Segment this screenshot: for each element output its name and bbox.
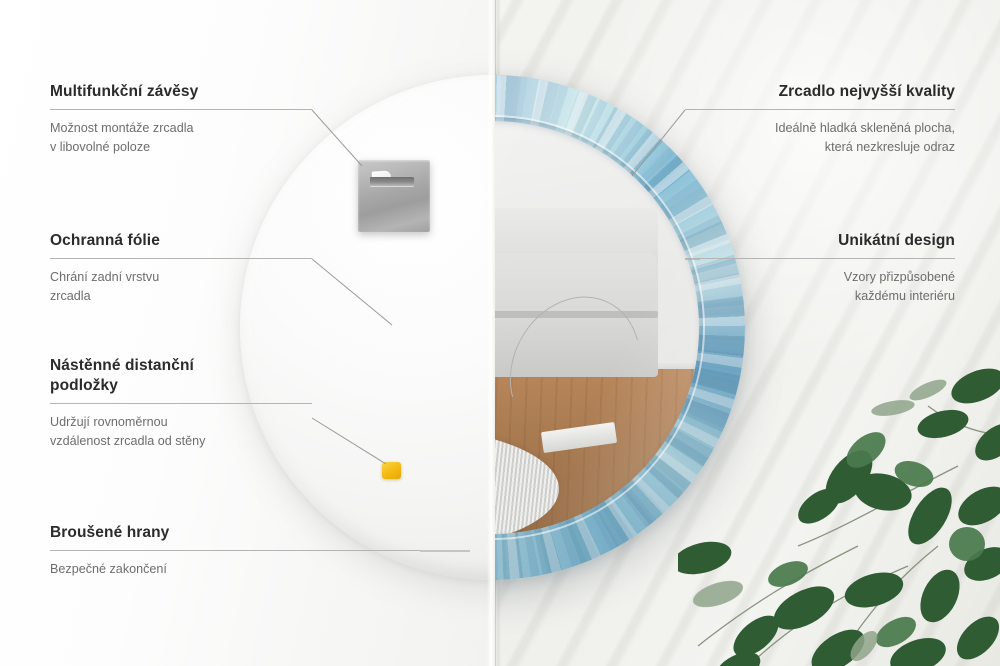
hanging-bracket-slot bbox=[370, 177, 414, 186]
callout-unikatni-design: Unikátní design Vzory přizpůsobené každé… bbox=[685, 231, 955, 305]
callout-rule bbox=[50, 550, 420, 551]
callout-title: Broušené hrany bbox=[50, 523, 420, 543]
callout-body: Ideálně hladká skleněná plocha, která ne… bbox=[685, 119, 955, 156]
callout-body: Vzory přizpůsobené každému interiéru bbox=[685, 268, 955, 305]
callout-title: Nástěnné distanční podložky bbox=[50, 356, 312, 396]
callout-body: Chrání zadní vrstvu zrcadla bbox=[50, 268, 312, 305]
callout-brousene-hrany: Broušené hrany Bezpečné zakončení bbox=[50, 523, 420, 579]
callout-title: Unikátní design bbox=[685, 231, 955, 251]
foliage-decoration bbox=[678, 346, 1000, 666]
callout-zrcadlo-nejvyssi-kvality: Zrcadlo nejvyšší kvality Ideálně hladká … bbox=[685, 82, 955, 156]
callout-rule bbox=[50, 109, 312, 110]
callout-rule bbox=[685, 258, 955, 259]
callout-title: Zrcadlo nejvyšší kvality bbox=[685, 82, 955, 102]
callout-ochranna-folie: Ochranná fólie Chrání zadní vrstvu zrcad… bbox=[50, 231, 312, 305]
callout-rule bbox=[50, 258, 312, 259]
callout-body: Možnost montáže zrcadla v libovolné polo… bbox=[50, 119, 312, 156]
callout-body: Bezpečné zakončení bbox=[50, 560, 420, 578]
callout-body: Udržují rovnoměrnou vzdálenost zrcadla o… bbox=[50, 413, 312, 450]
callout-multifunkcni-zavesy: Multifunkční závěsy Možnost montáže zrca… bbox=[50, 82, 312, 156]
hanging-bracket-icon bbox=[358, 160, 430, 232]
callout-rule bbox=[50, 403, 312, 404]
callout-title: Ochranná fólie bbox=[50, 231, 312, 251]
infographic-canvas: Multifunkční závěsy Možnost montáže zrca… bbox=[0, 0, 1000, 666]
callout-rule bbox=[685, 109, 955, 110]
callout-nastenne-distancni-podlozky: Nástěnné distanční podložky Udržují rovn… bbox=[50, 356, 312, 450]
callout-title: Multifunkční závěsy bbox=[50, 82, 312, 102]
wall-spacer-pad-icon bbox=[382, 462, 401, 479]
